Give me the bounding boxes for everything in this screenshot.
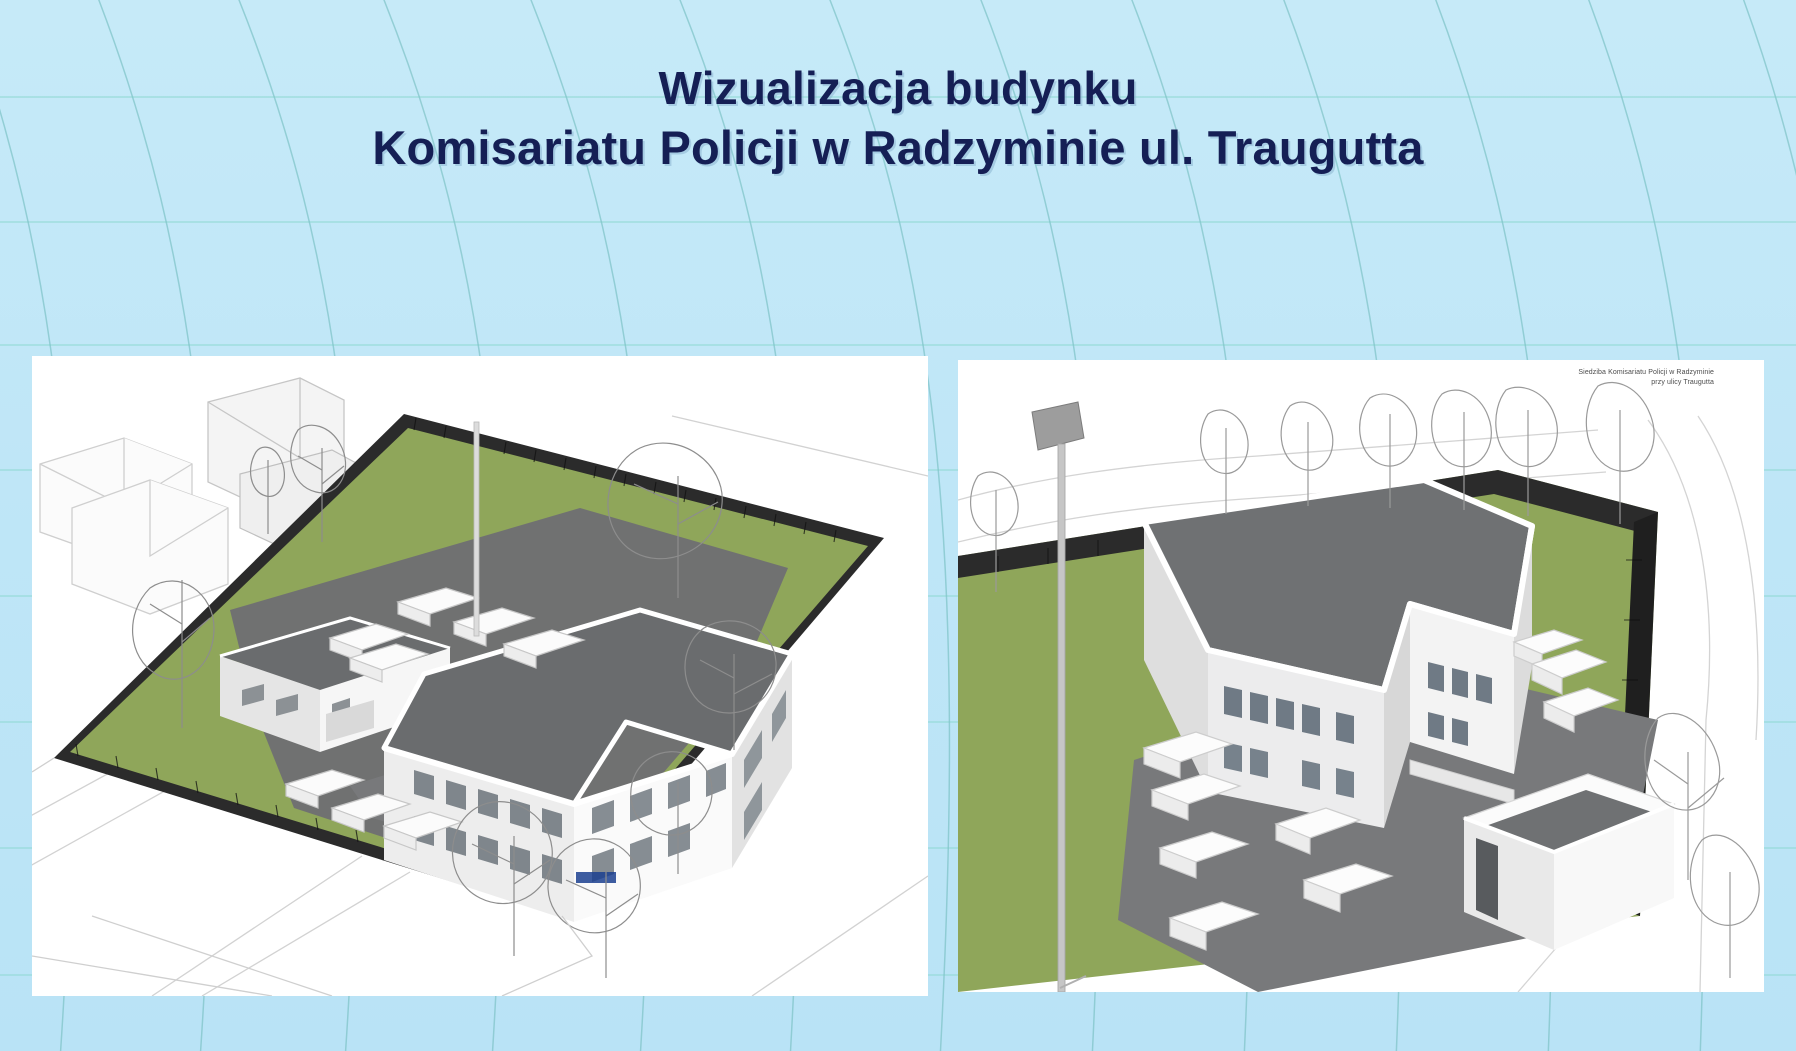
presentation-slide: Wizualizacja budynku Komisariatu Policji… bbox=[0, 0, 1796, 1051]
visualization-image-right[interactable]: Siedziba Komisariatu Policji w Radzymini… bbox=[958, 360, 1764, 992]
visualization-image-left[interactable] bbox=[32, 356, 928, 996]
render-caption: Siedziba Komisariatu Policji w Radzymini… bbox=[1578, 368, 1714, 388]
title-line-2: Komisariatu Policji w Radzyminie ul. Tra… bbox=[0, 118, 1796, 178]
slide-title: Wizualizacja budynku Komisariatu Policji… bbox=[0, 58, 1796, 178]
title-line-1: Wizualizacja budynku bbox=[0, 58, 1796, 118]
render-caption-line-2: przy ulicy Traugutta bbox=[1578, 378, 1714, 388]
render-caption-line-1: Siedziba Komisariatu Policji w Radzymini… bbox=[1578, 368, 1714, 378]
